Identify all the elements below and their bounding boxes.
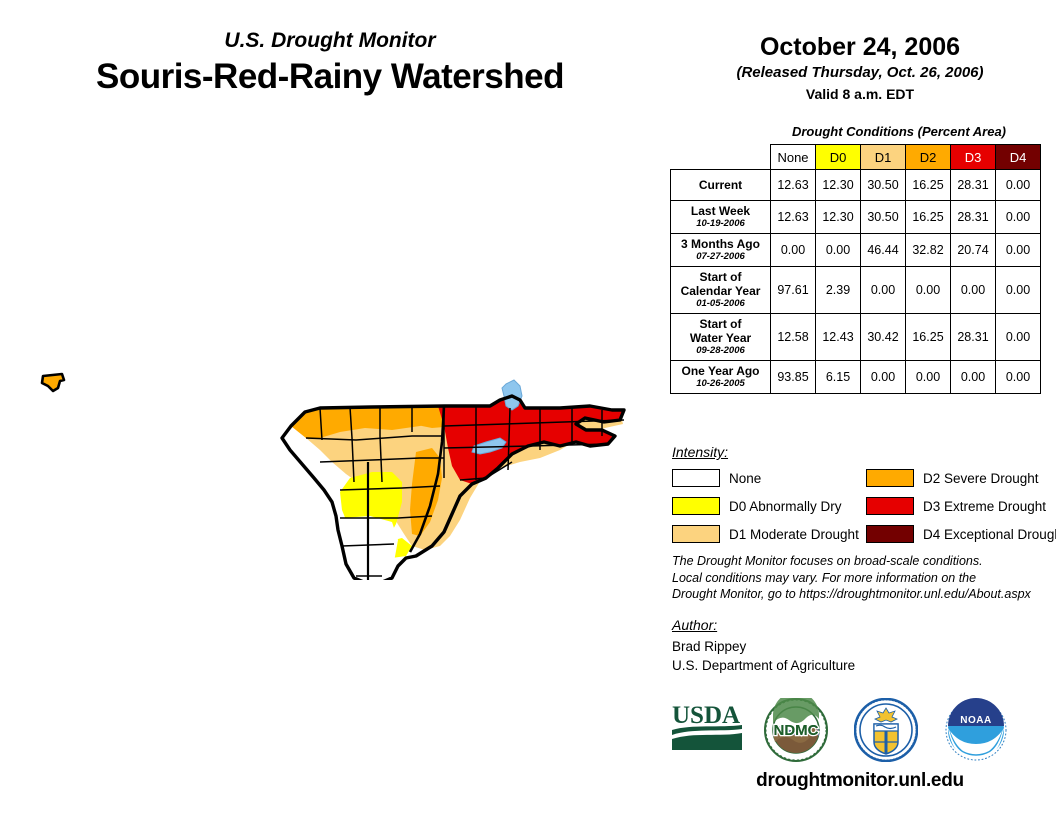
cell-d1: 30.50 [861,170,906,201]
cell-d0: 12.30 [816,201,861,234]
cell-d2: 16.25 [906,170,951,201]
cell-d4: 0.00 [996,267,1041,314]
disclaimer-text: The Drought Monitor focuses on broad-sca… [672,553,1052,603]
cell-d0: 2.39 [816,267,861,314]
noaa-logo: NOAA [944,698,1008,762]
table-row: One Year Ago10-26-200593.856.150.000.000… [671,361,1041,394]
table-row: Start ofCalendar Year01-05-200697.612.39… [671,267,1041,314]
row-date: 10-19-2006 [673,218,768,230]
disclaimer-line-3: Drought Monitor, go to https://droughtmo… [672,586,1052,603]
table-caption: Drought Conditions (Percent Area) [766,124,1032,139]
legend-label: D0 Abnormally Dry [729,499,842,514]
cell-none: 12.63 [771,201,816,234]
usda-logo: USDA [670,698,744,758]
cell-d3: 0.00 [951,361,996,394]
drought-conditions-table: None D0 D1 D2 D3 D4 Current12.6312.3030.… [670,144,1041,394]
legend-label: None [729,471,761,486]
legend-label: D3 Extreme Drought [923,499,1046,514]
cell-d3: 28.31 [951,170,996,201]
legend-item: D2 Severe Drought [866,466,1056,490]
intensity-legend-title: Intensity: [672,444,728,460]
cell-d0: 0.00 [816,234,861,267]
cell-d4: 0.00 [996,314,1041,361]
program-title: U.S. Drought Monitor [0,28,660,54]
cell-d0: 12.30 [816,170,861,201]
legend-column-right: D2 Severe DroughtD3 Extreme DroughtD4 Ex… [866,466,1056,550]
drought-map [20,350,660,580]
cell-d2: 0.00 [906,267,951,314]
row-label: One Year Ago10-26-2005 [671,361,771,394]
cell-d4: 0.00 [996,170,1041,201]
cell-d4: 0.00 [996,234,1041,267]
row-label: Start ofCalendar Year01-05-2006 [671,267,771,314]
cell-d0: 12.43 [816,314,861,361]
cell-none: 93.85 [771,361,816,394]
legend-item: None [672,466,859,490]
legend-swatch [866,469,914,487]
cell-d1: 0.00 [861,267,906,314]
cell-d2: 16.25 [906,314,951,361]
left-header-block: U.S. Drought Monitor Souris-Red-Rainy Wa… [0,28,660,98]
col-header-d4: D4 [996,145,1041,170]
row-date: 09-28-2006 [673,345,768,357]
table-row: Last Week10-19-200612.6312.3030.5016.252… [671,201,1041,234]
row-date: 10-26-2005 [673,378,768,390]
table-header-row: None D0 D1 D2 D3 D4 [671,145,1041,170]
cell-d1: 0.00 [861,361,906,394]
cell-none: 12.58 [771,314,816,361]
cell-d1: 46.44 [861,234,906,267]
row-label: Start ofWater Year09-28-2006 [671,314,771,361]
legend-swatch [672,525,720,543]
col-header-none: None [771,145,816,170]
svg-text:NDMC: NDMC [774,722,819,739]
row-label: 3 Months Ago07-27-2006 [671,234,771,267]
author-block: Brad Rippey U.S. Department of Agricultu… [672,637,855,675]
author-name: Brad Rippey [672,637,855,656]
row-label: Last Week10-19-2006 [671,201,771,234]
cell-d2: 32.82 [906,234,951,267]
cell-d0: 6.15 [816,361,861,394]
table-row: Current12.6312.3030.5016.2528.310.00 [671,170,1041,201]
legend-label: D4 Exceptional Drought [923,527,1056,542]
row-label: Current [671,170,771,201]
cell-d3: 28.31 [951,314,996,361]
legend-item: D1 Moderate Drought [672,522,859,546]
legend-swatch [866,497,914,515]
released-date: (Released Thursday, Oct. 26, 2006) [664,63,1056,83]
valid-date: October 24, 2006 [664,32,1056,62]
cell-none: 97.61 [771,267,816,314]
date-header-block: October 24, 2006 (Released Thursday, Oct… [664,32,1056,104]
cell-d2: 0.00 [906,361,951,394]
map-detached-piece [42,374,64,391]
disclaimer-line-2: Local conditions may vary. For more info… [672,570,1052,587]
cell-d3: 28.31 [951,201,996,234]
table-row: 3 Months Ago07-27-20060.000.0046.4432.82… [671,234,1041,267]
author-heading: Author: [672,617,717,633]
disclaimer-line-1: The Drought Monitor focuses on broad-sca… [672,553,1052,570]
logo-row: USDA NDMC NDMC [664,698,1056,762]
cell-d3: 0.00 [951,267,996,314]
map-fill-regions [291,396,624,580]
cell-d1: 30.42 [861,314,906,361]
legend-item: D3 Extreme Drought [866,494,1056,518]
cell-d4: 0.00 [996,361,1041,394]
commerce-logo [854,698,918,762]
row-date: 01-05-2006 [673,298,768,310]
legend-label: D2 Severe Drought [923,471,1039,486]
cell-d1: 30.50 [861,201,906,234]
page-title: Souris-Red-Rainy Watershed [0,56,660,98]
col-header-d2: D2 [906,145,951,170]
legend-item: D4 Exceptional Drought [866,522,1056,546]
svg-text:NOAA: NOAA [960,715,991,726]
cell-d4: 0.00 [996,201,1041,234]
legend-swatch [866,525,914,543]
table-body: Current12.6312.3030.5016.2528.310.00Last… [671,170,1041,394]
col-header-d3: D3 [951,145,996,170]
svg-text:USDA: USDA [672,702,740,729]
watershed-map-svg [20,350,660,580]
author-affiliation: U.S. Department of Agriculture [672,656,855,675]
valid-time: Valid 8 a.m. EDT [664,85,1056,104]
cell-none: 12.63 [771,170,816,201]
table-row: Start ofWater Year09-28-200612.5812.4330… [671,314,1041,361]
table-corner-cell [671,145,771,170]
legend-column-left: NoneD0 Abnormally DryD1 Moderate Drought [672,466,859,550]
col-header-d1: D1 [861,145,906,170]
ndmc-logo: NDMC NDMC [764,698,828,762]
col-header-d0: D0 [816,145,861,170]
legend-swatch [672,497,720,515]
legend-swatch [672,469,720,487]
cell-none: 0.00 [771,234,816,267]
cell-d3: 20.74 [951,234,996,267]
cell-d2: 16.25 [906,201,951,234]
legend-item: D0 Abnormally Dry [672,494,859,518]
row-date: 07-27-2006 [673,251,768,263]
legend-label: D1 Moderate Drought [729,527,859,542]
website-url: droughtmonitor.unl.edu [664,770,1056,792]
